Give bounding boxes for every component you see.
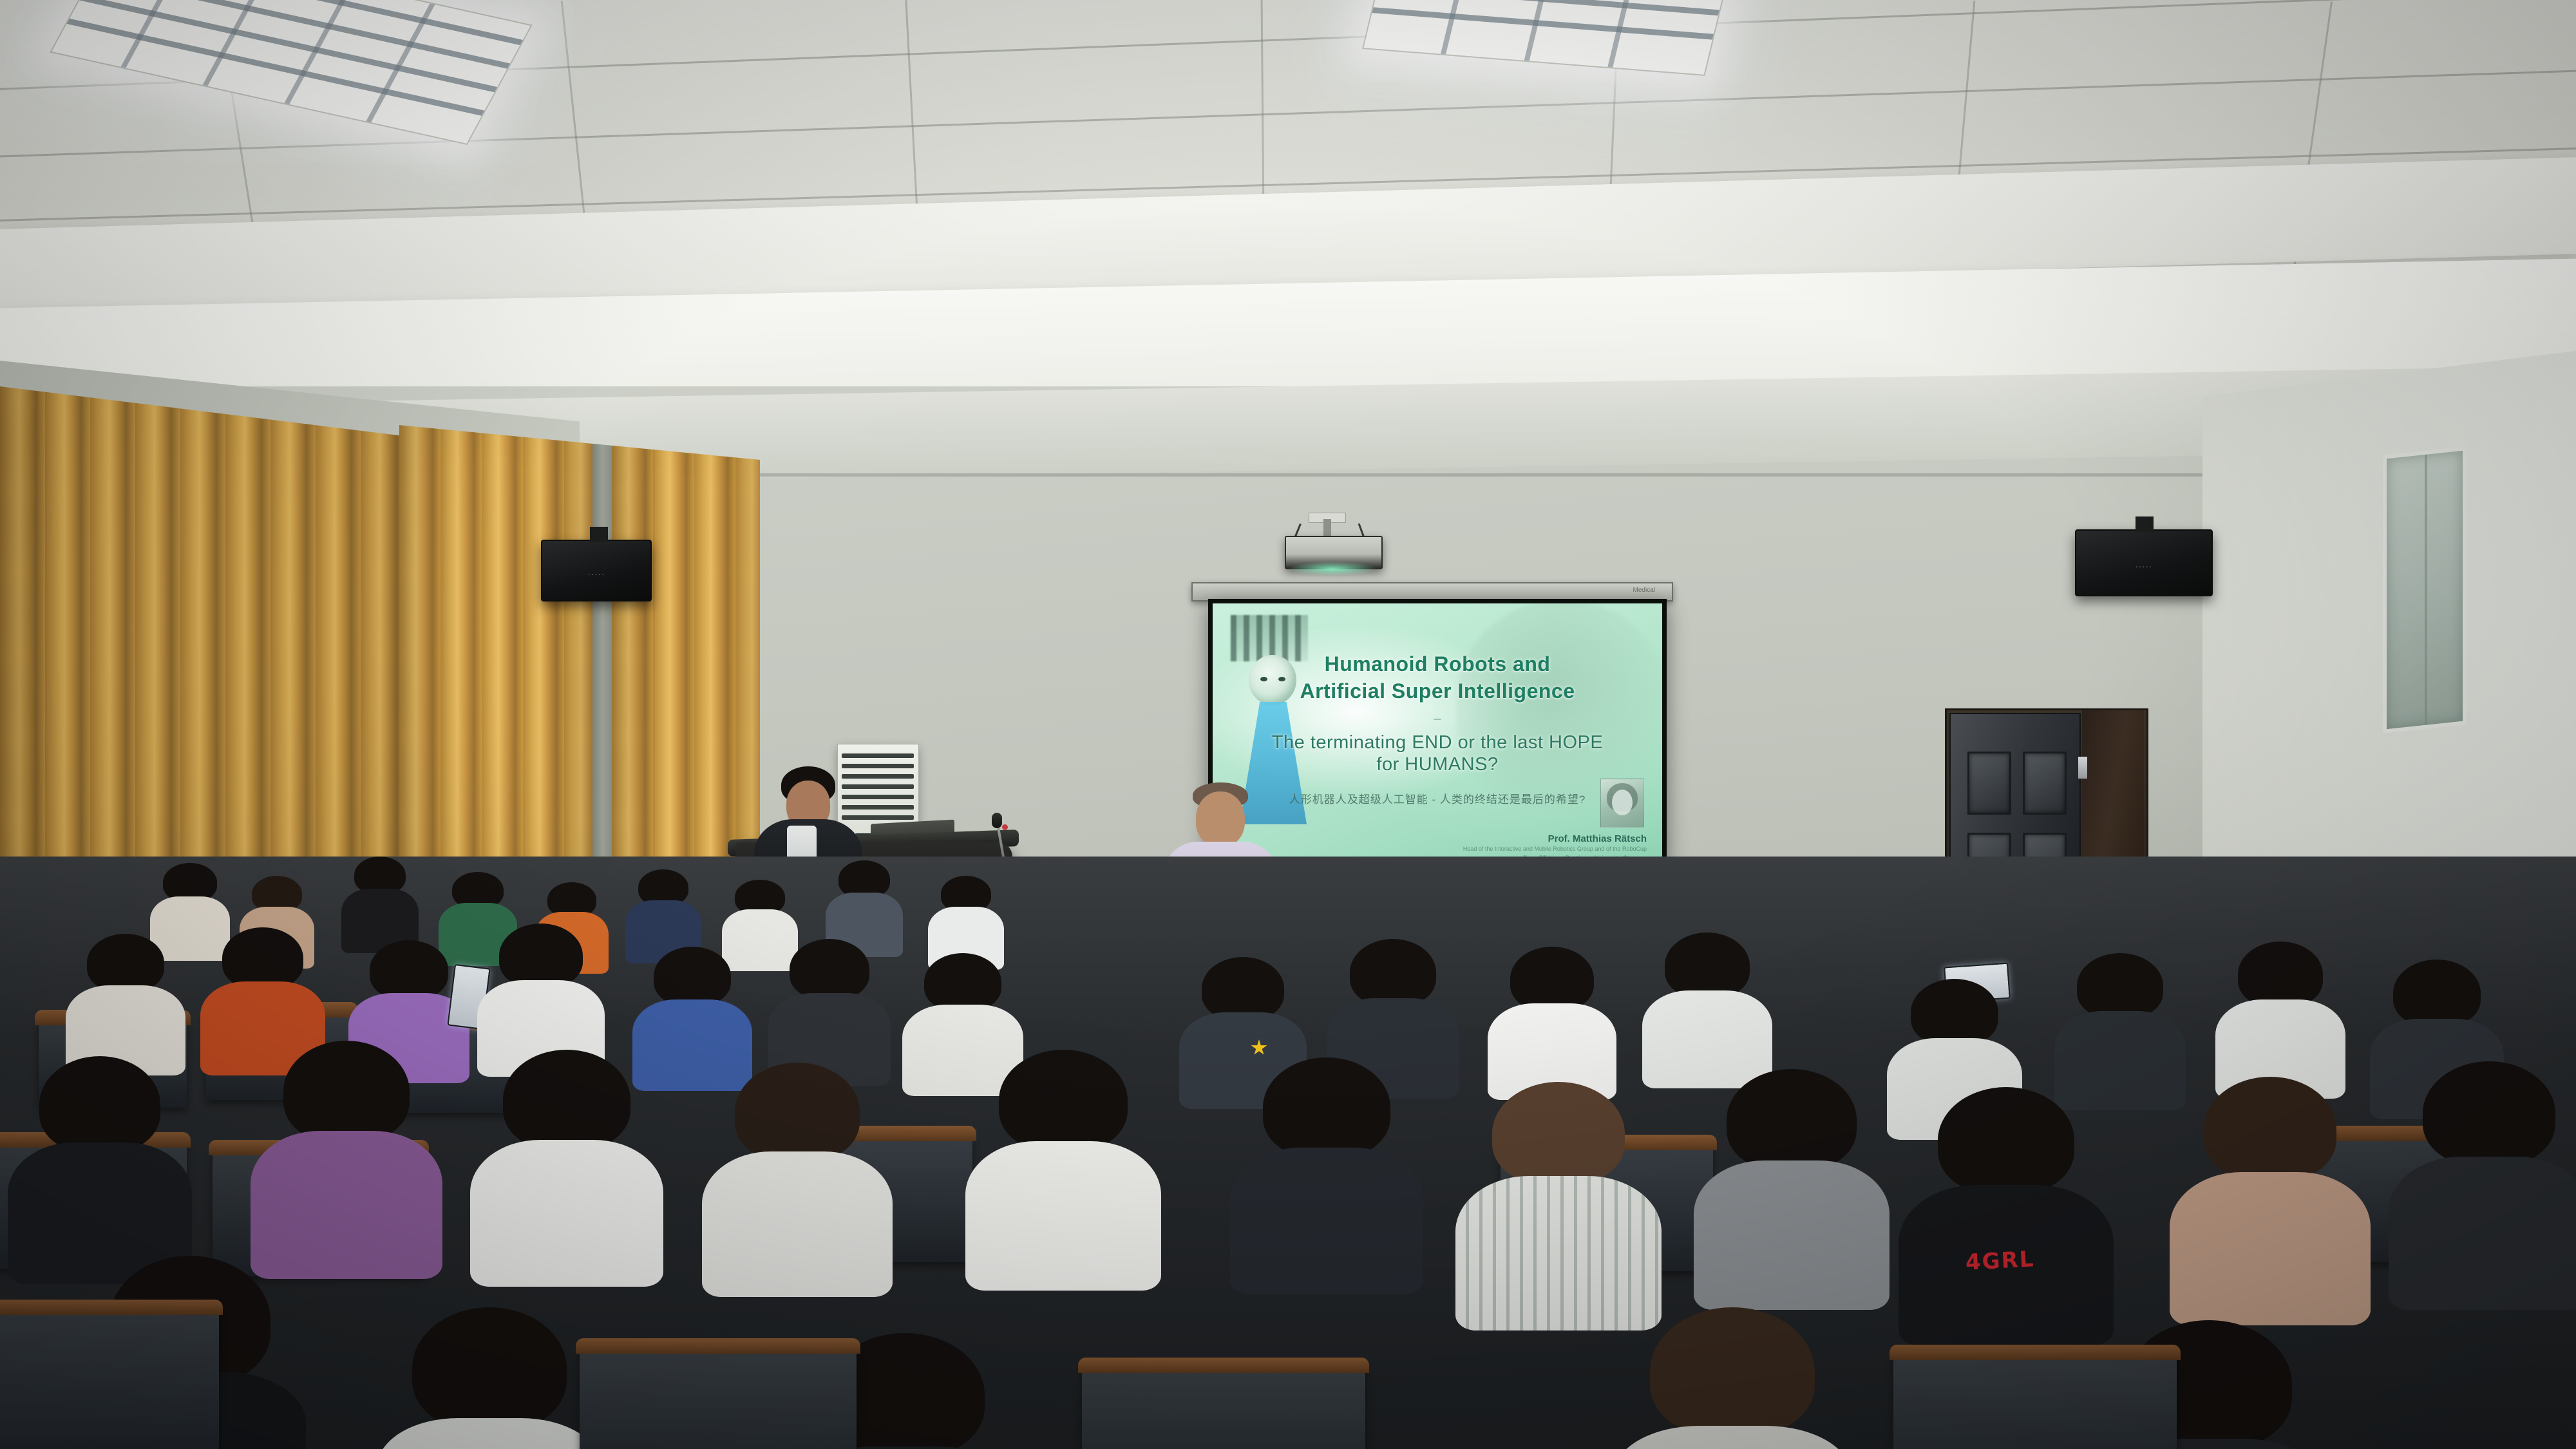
- audience-member-foreground: [985, 1050, 1141, 1256]
- lecture-hall-photo: ····· ····· Medical Humanoid Robots and …: [0, 0, 2576, 1449]
- audience-member: [1340, 939, 1446, 1075]
- auditorium-seat[interactable]: [1082, 1365, 1365, 1449]
- wall-speaker-right: ·····: [2075, 529, 2213, 596]
- audience-member-foreground: [399, 1307, 580, 1449]
- audience-member: [77, 934, 174, 1056]
- audience-seating-area: 4GRL: [0, 857, 2576, 1449]
- auditorium-seat[interactable]: [1893, 1352, 2177, 1449]
- audience-member-graphic-shirt: 4GRL: [1919, 1087, 2093, 1306]
- side-window: [2383, 446, 2467, 734]
- ceiling-light-fixture-right: [1362, 0, 1725, 76]
- audience-member-foreground: [270, 1041, 422, 1247]
- wall-speaker-left: ·····: [541, 540, 652, 601]
- audience-member-foreground: [1713, 1069, 1870, 1276]
- podium-microphone-head: [992, 813, 1002, 828]
- audience-member: [348, 857, 412, 940]
- audience-member: [779, 939, 880, 1065]
- audience-member: [2228, 942, 2333, 1075]
- audience-member: [644, 947, 741, 1069]
- shirt-graphic-text: 4GRL: [1965, 1246, 2035, 1276]
- slide-title-line-2: Artificial Super Intelligence: [1213, 679, 1662, 703]
- auditorium-seat[interactable]: [580, 1346, 857, 1449]
- audience-member-foreground: [1249, 1057, 1404, 1262]
- audience-member: [1501, 947, 1604, 1077]
- slide-title-line-1: Humanoid Robots and: [1213, 652, 1662, 676]
- audience-member: [1655, 933, 1759, 1065]
- podium-microphone-windscreen: [1002, 824, 1008, 830]
- audience-member: [489, 923, 592, 1056]
- audience-member-foreground: [1475, 1082, 1642, 1294]
- audience-member-foreground: [2190, 1077, 2351, 1289]
- audience-member-foreground: [2409, 1061, 2570, 1274]
- audience-member: [934, 876, 998, 956]
- audience-member: [631, 869, 696, 949]
- slide-presenter-name: Prof. Matthias Rätsch: [1486, 833, 1647, 844]
- slide-subtitle-line-1: The terminating END or the last HOPE: [1213, 732, 1662, 753]
- screen-housing-label: Medical: [1633, 587, 1655, 594]
- audience-member-foreground: [1636, 1307, 1829, 1449]
- auditorium-seat[interactable]: [0, 1307, 219, 1449]
- suspended-ceiling: [0, 0, 2576, 412]
- ceiling-light-fixture-left: [50, 0, 533, 145]
- projector-light-beam: [1288, 562, 1377, 576]
- audience-member-foreground: [26, 1056, 174, 1249]
- audience-member: [2067, 953, 2173, 1086]
- slide-divider-dash: –: [1213, 712, 1662, 726]
- audience-member-foreground: [721, 1063, 873, 1264]
- slide-presenter-portrait: [1600, 779, 1644, 828]
- door-hinge: [2078, 757, 2087, 779]
- audience-member: [831, 860, 898, 944]
- audience-member: [213, 927, 313, 1056]
- slide-subtitle-line-2: for HUMANS?: [1213, 754, 1662, 775]
- audience-member-foreground: [489, 1050, 644, 1253]
